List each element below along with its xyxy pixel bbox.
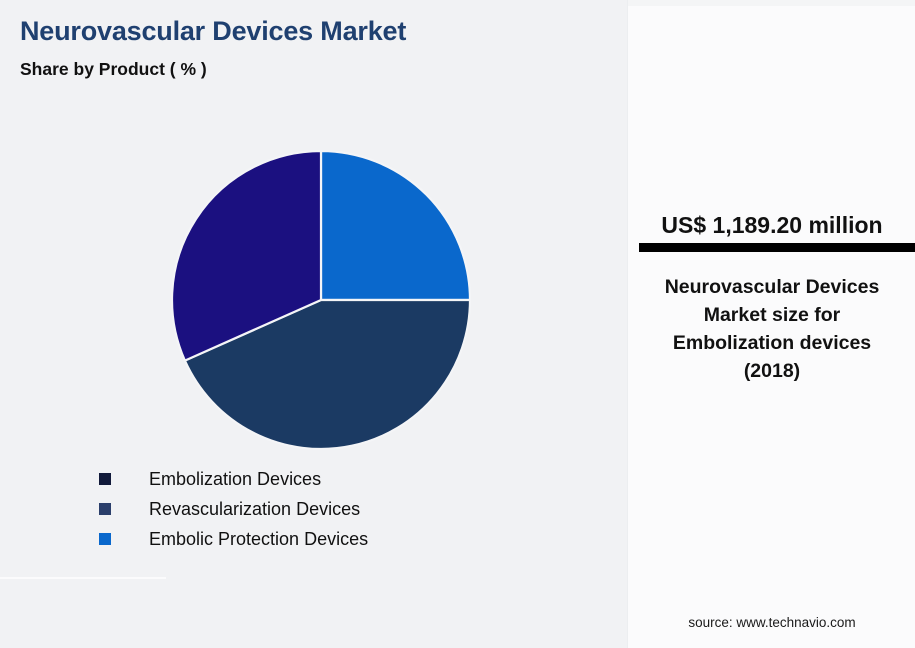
legend-item-revascularization-devices[interactable]: Revascularization Devices [99, 494, 368, 524]
pie-chart-svg [171, 150, 471, 450]
callout-value: US$ 1,189.20 million [628, 212, 915, 239]
chart-subtitle: Share by Product ( % ) [20, 59, 207, 80]
panel-top-edge [628, 0, 915, 6]
legend-swatch-icon [99, 473, 111, 485]
callout-panel: US$ 1,189.20 million Neurovascular Devic… [627, 0, 915, 648]
infographic-root: Neurovascular Devices Market Share by Pr… [0, 0, 915, 648]
pie-slice[interactable] [321, 151, 470, 300]
callout-underline [639, 243, 915, 252]
page-title: Neurovascular Devices Market [20, 16, 406, 47]
callout-caption: Neurovascular Devices Market size for Em… [642, 274, 902, 386]
legend-item-label: Revascularization Devices [149, 499, 360, 520]
legend-item-label: Embolic Protection Devices [149, 529, 368, 550]
source-label: source: www.technavio.com [628, 615, 915, 630]
legend-item-embolic-protection-devices[interactable]: Embolic Protection Devices [99, 524, 368, 554]
legend-item-label: Embolization Devices [149, 469, 321, 490]
pie-chart [171, 150, 471, 450]
chart-panel: Neurovascular Devices Market Share by Pr… [0, 0, 627, 648]
chart-legend: Embolization Devices Revascularization D… [99, 464, 368, 554]
decorative-rule [0, 577, 166, 579]
legend-item-embolization-devices[interactable]: Embolization Devices [99, 464, 368, 494]
legend-swatch-icon [99, 503, 111, 515]
legend-swatch-icon [99, 533, 111, 545]
